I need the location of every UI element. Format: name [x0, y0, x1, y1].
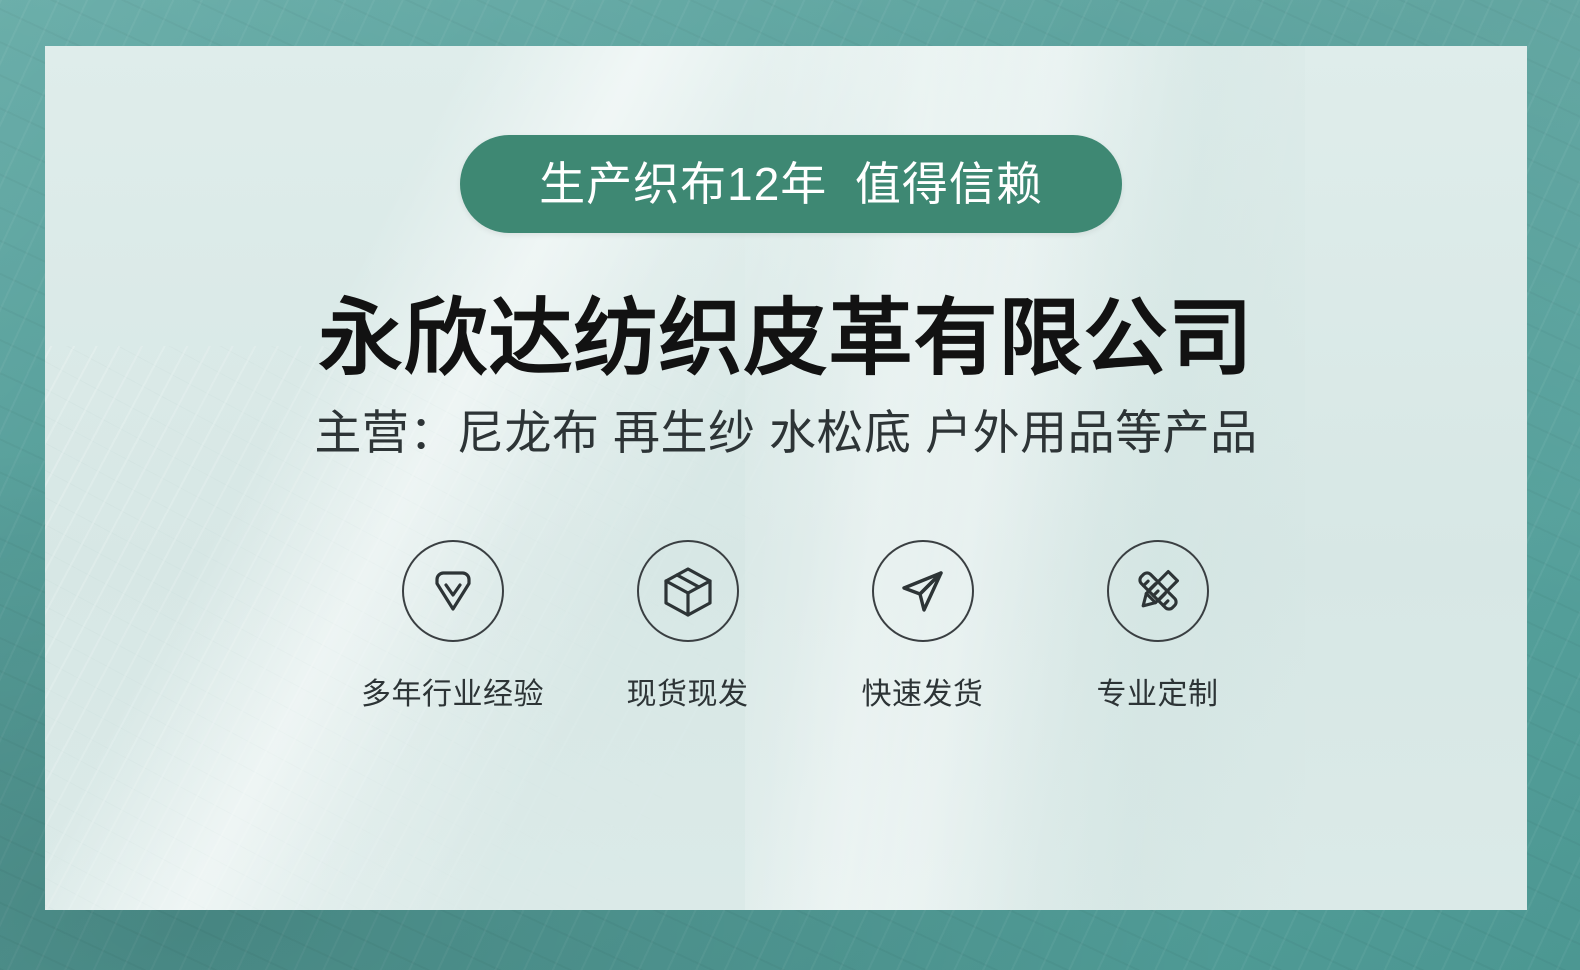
feature-item-custom: 专业定制 — [1050, 540, 1265, 713]
feature-list: 多年行业经验 现货现发 — [345, 540, 1265, 713]
trust-badge-label: 生产织布12年 值得信赖 — [539, 161, 1043, 207]
company-promo-banner: 生产织布12年 值得信赖 永欣达纺织皮革有限公司 主营：尼龙布 再生纱 水松底 … — [0, 0, 1580, 970]
feature-label-experience: 多年行业经验 — [361, 669, 544, 713]
paper-plane-icon — [872, 540, 974, 642]
feature-item-fast-shipping: 快速发货 — [815, 540, 1030, 713]
company-name-title: 永欣达纺织皮革有限公司 — [45, 294, 1527, 382]
panel-content: 生产织布12年 值得信赖 永欣达纺织皮革有限公司 主营：尼龙布 再生纱 水松底 … — [45, 46, 1527, 910]
feature-item-in-stock: 现货现发 — [580, 540, 795, 713]
feature-label-fast-shipping: 快速发货 — [862, 669, 984, 713]
main-products-subtitle: 主营：尼龙布 再生纱 水松底 户外用品等产品 — [45, 406, 1527, 460]
package-box-icon — [637, 540, 739, 642]
trust-badge: 生产织布12年 值得信赖 — [460, 135, 1122, 233]
feature-label-custom: 专业定制 — [1097, 669, 1219, 713]
pencil-ruler-icon — [1107, 540, 1209, 642]
feature-label-in-stock: 现货现发 — [627, 669, 749, 713]
feature-item-experience: 多年行业经验 — [345, 540, 560, 713]
quality-badge-icon — [402, 540, 504, 642]
content-panel: 生产织布12年 值得信赖 永欣达纺织皮革有限公司 主营：尼龙布 再生纱 水松底 … — [45, 46, 1527, 910]
